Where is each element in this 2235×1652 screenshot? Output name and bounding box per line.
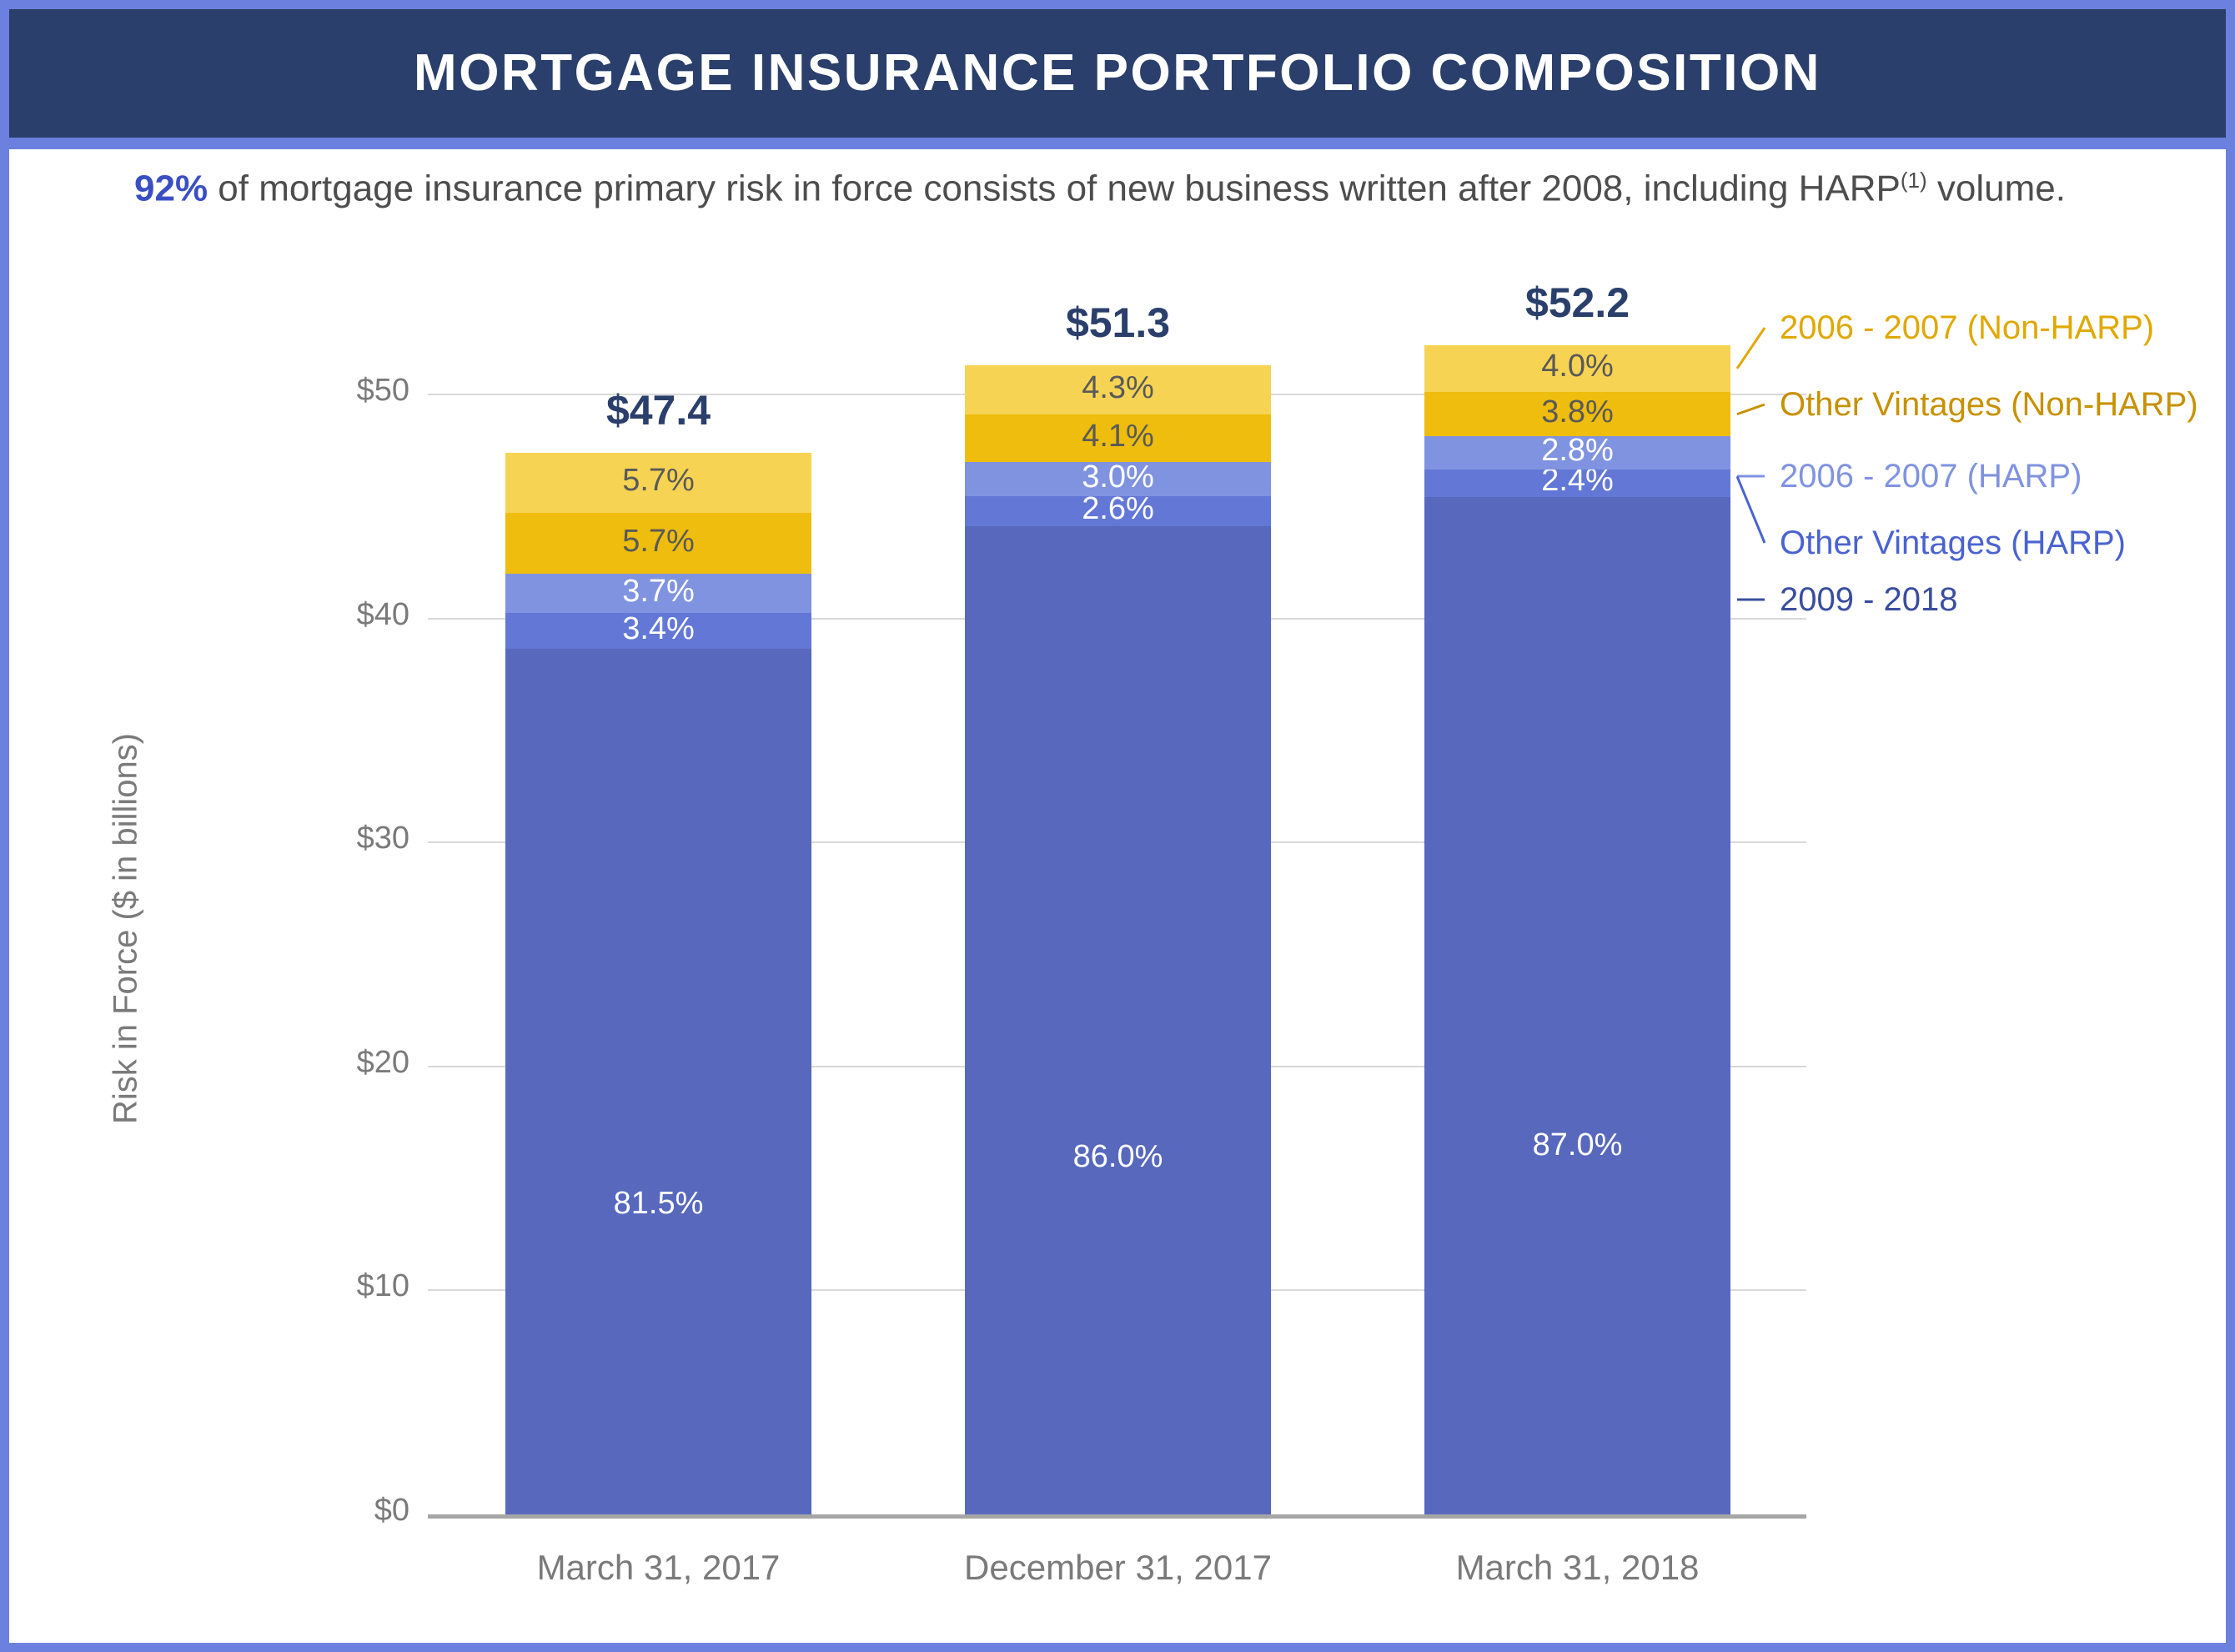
bar-segment[interactable]: 5.7% [505,513,811,574]
bar-total-label: $47.4 [505,386,811,434]
y-axis-tick-label: $40 [276,597,409,633]
bar-segment[interactable]: 86.0% [965,526,1271,1514]
bar-segment-value-label: 3.0% [965,459,1271,495]
bar-segment-value-label: 2.8% [1424,433,1730,469]
bar-segment-value-label: 81.5% [505,1186,811,1222]
bar-segment[interactable]: 3.8% [1424,392,1730,436]
bar-segment-value-label: 86.0% [965,1139,1271,1175]
legend-item-2[interactable]: 2006 - 2007 (HARP) [1780,458,2082,495]
x-axis-tick-label: March 31, 2017 [414,1548,903,1588]
bar-total-label: $52.2 [1424,279,1730,327]
legend-item-0[interactable]: 2006 - 2007 (Non-HARP) [1780,309,2154,347]
bar-segment-value-label: 2.6% [965,491,1271,527]
bar-segment-value-label: 87.0% [1424,1127,1730,1163]
bar-segment[interactable]: 81.5% [505,649,811,1514]
bar-segment[interactable]: 2.8% [1424,436,1730,469]
legend-item-1[interactable]: Other Vintages (Non-HARP) [1780,386,2198,424]
bar-segment[interactable]: 2.4% [1424,469,1730,498]
bar-segment[interactable]: 4.3% [965,365,1271,414]
y-axis-tick-label: $10 [276,1268,409,1304]
stacked-bar-chart: Risk in Force ($ in billions) $0$10$20$3… [9,9,2226,1643]
bar-column[interactable]: 81.5%3.4%3.7%5.7%5.7%$47.4 [505,453,811,1514]
legend-item-4[interactable]: 2009 - 2018 [1780,581,1958,619]
y-axis-tick-label: $30 [276,821,409,856]
bar-segment-value-label: 3.7% [505,574,811,610]
x-axis-tick-label: March 31, 2018 [1333,1548,1822,1588]
bar-segment-value-label: 4.0% [1424,349,1730,384]
bar-segment-value-label: 5.7% [505,463,811,499]
y-axis-tick-label: $20 [276,1045,409,1081]
bar-segment-value-label: 5.7% [505,524,811,560]
bar-segment[interactable]: 3.7% [505,574,811,613]
y-axis-tick-label: $0 [276,1493,409,1529]
bar-segment[interactable]: 3.4% [505,613,811,649]
legend-leader-line [1737,404,1765,414]
bar-segment-value-label: 3.8% [1424,394,1730,430]
bar-column[interactable]: 86.0%2.6%3.0%4.1%4.3%$51.3 [965,365,1271,1514]
legend-leader-line [1737,328,1765,369]
x-axis-tick-label: December 31, 2017 [873,1548,1363,1588]
y-axis-title: Risk in Force ($ in billions) [108,612,145,1246]
legend-leader-line [1737,476,1765,543]
bar-column[interactable]: 87.0%2.4%2.8%3.8%4.0%$52.2 [1424,345,1730,1514]
bar-segment[interactable]: 4.0% [1424,345,1730,392]
bar-segment[interactable]: 2.6% [965,496,1271,526]
bar-segment[interactable]: 87.0% [1424,497,1730,1514]
axis-baseline [428,1514,1806,1519]
bar-segment-value-label: 4.3% [965,370,1271,406]
y-axis-tick-label: $50 [276,373,409,409]
bar-segment[interactable]: 4.1% [965,414,1271,461]
slide-root: MORTGAGE INSURANCE PORTFOLIO COMPOSITION… [0,0,2235,1652]
legend-item-3[interactable]: Other Vintages (HARP) [1780,525,2126,562]
bar-total-label: $51.3 [965,299,1271,347]
bar-segment-value-label: 3.4% [505,611,811,647]
bar-segment[interactable]: 3.0% [965,462,1271,496]
bar-segment-value-label: 4.1% [965,419,1271,454]
bar-segment[interactable]: 5.7% [505,453,811,514]
